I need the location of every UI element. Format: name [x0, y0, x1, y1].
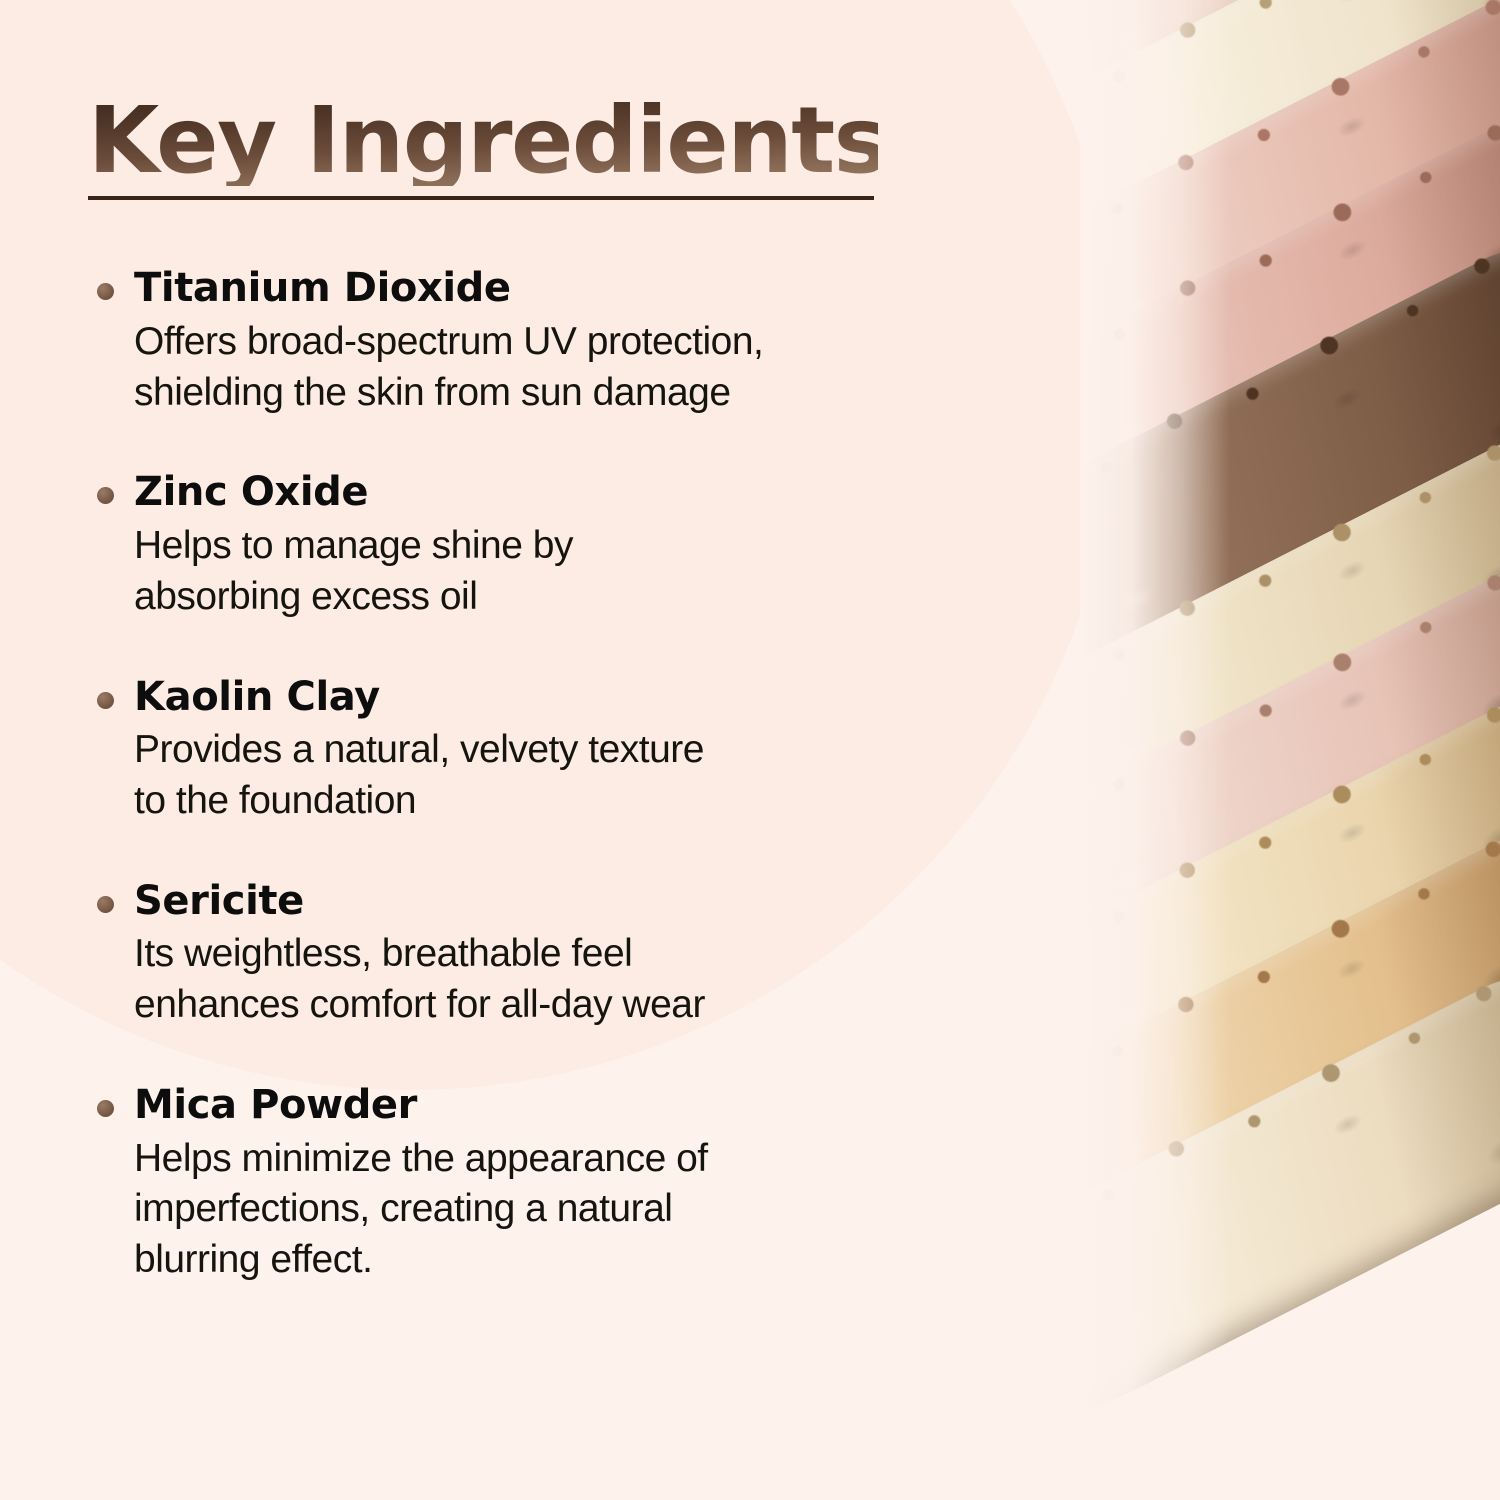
title-underline [88, 196, 874, 200]
ingredient-name: Kaolin Clay [134, 675, 988, 720]
bullet-dot-icon [97, 283, 114, 300]
bullet-dot-icon [97, 487, 114, 504]
ingredient-name: Titanium Dioxide [134, 266, 988, 311]
ingredient-description: Provides a natural, velvety texture to t… [134, 725, 988, 826]
bullet-dot-icon [97, 1100, 114, 1117]
key-ingredients-infographic: Key Ingredients Titanium DioxideOffers b… [0, 0, 1500, 1500]
ingredient-item: Kaolin ClayProvides a natural, velvety t… [88, 675, 988, 827]
cosmetic-powder-swatch-strip [1080, 0, 1500, 1500]
ingredient-name: Mica Powder [134, 1083, 988, 1128]
ingredient-list: Titanium DioxideOffers broad-spectrum UV… [88, 266, 988, 1286]
bullet-dot-icon [97, 692, 114, 709]
ingredient-item: SericiteIts weightless, breathable feel … [88, 879, 988, 1031]
ingredient-description: Helps to manage shine by absorbing exces… [134, 521, 988, 622]
ingredient-item: Mica PowderHelps minimize the appearance… [88, 1083, 988, 1286]
page-title: Key Ingredients [88, 96, 878, 186]
ingredient-item: Titanium DioxideOffers broad-spectrum UV… [88, 266, 988, 418]
ingredient-description: Its weightless, breathable feel enhances… [134, 929, 988, 1030]
ingredient-name: Sericite [134, 879, 988, 924]
bullet-dot-icon [97, 896, 114, 913]
title-block: Key Ingredients [88, 96, 878, 200]
ingredient-item: Zinc OxideHelps to manage shine by absor… [88, 470, 988, 622]
ingredient-name: Zinc Oxide [134, 470, 988, 515]
ingredient-description: Offers broad-spectrum UV protection, shi… [134, 317, 988, 418]
content-column: Key Ingredients Titanium DioxideOffers b… [0, 0, 1010, 1500]
ingredient-description: Helps minimize the appearance of imperfe… [134, 1134, 988, 1286]
